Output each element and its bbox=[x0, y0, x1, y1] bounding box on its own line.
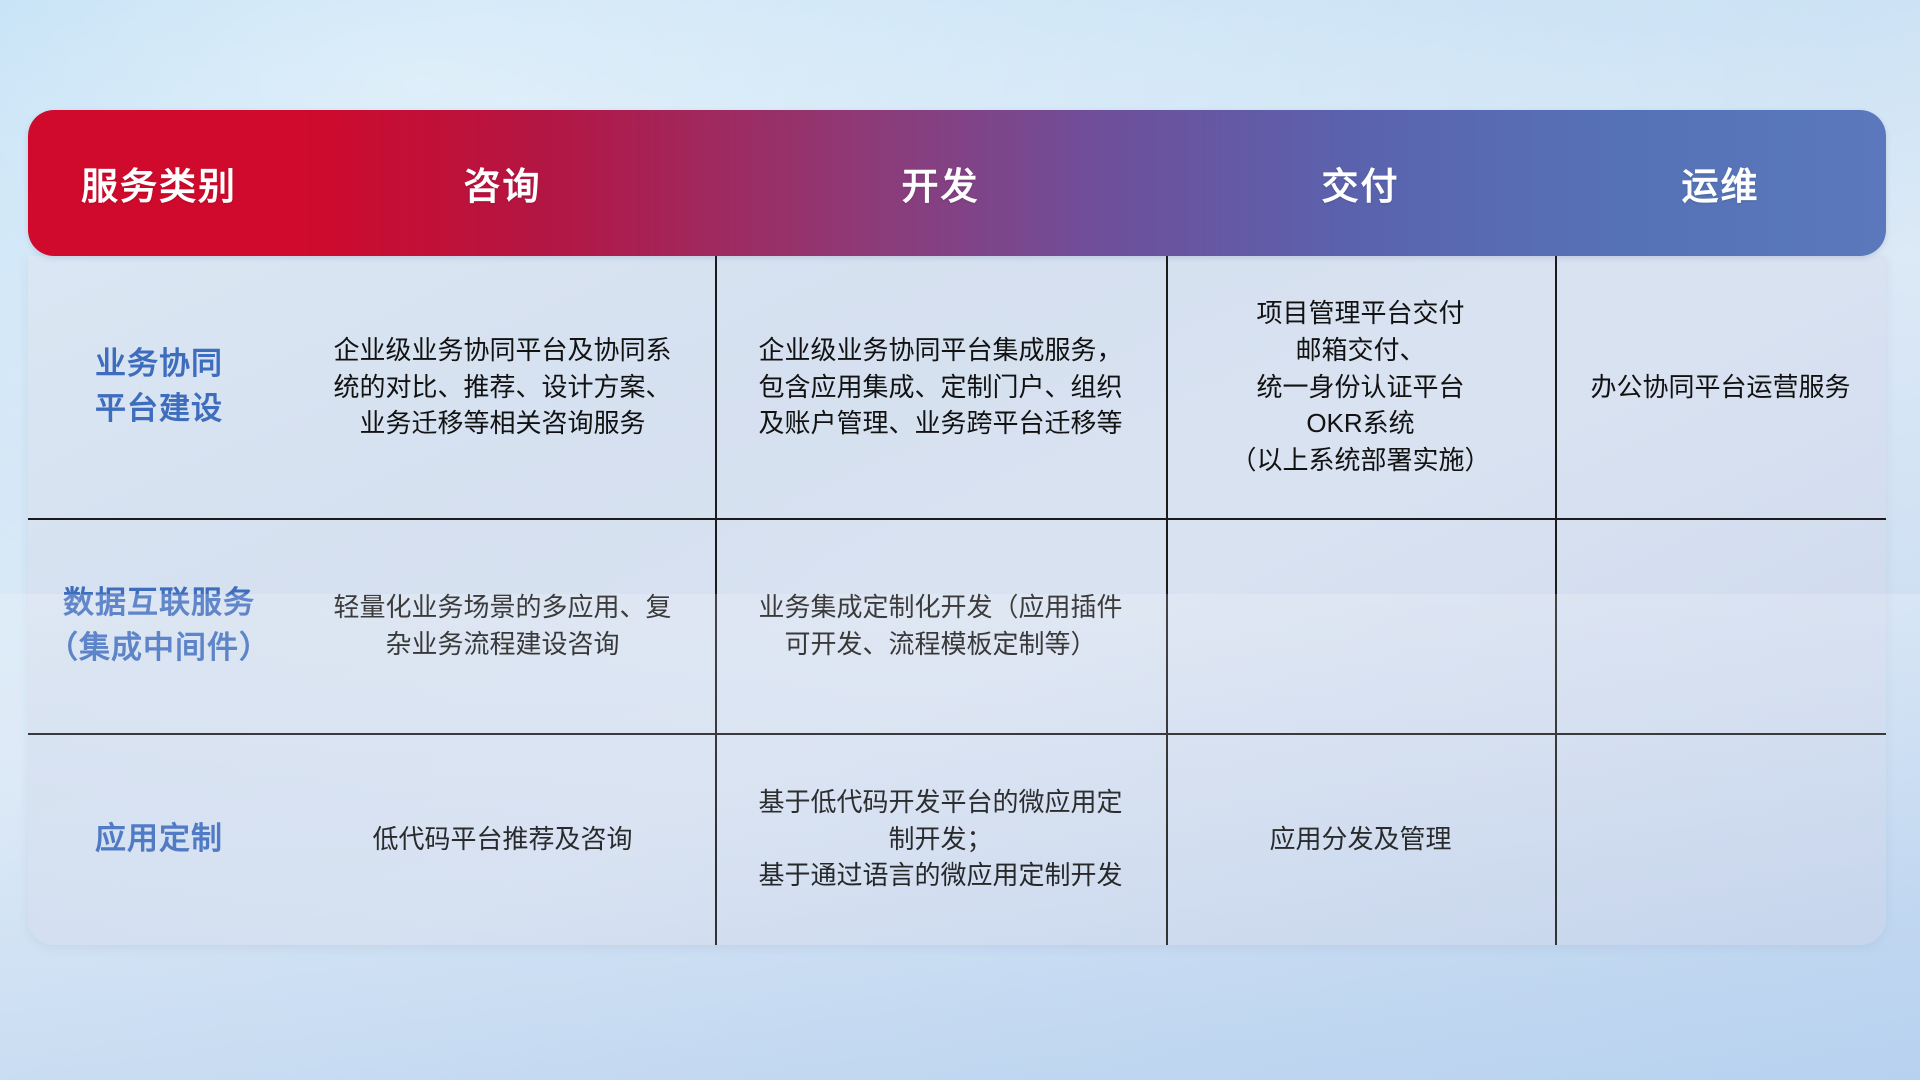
cell-delivery: 项目管理平台交付 邮箱交付、 统一身份认证平台 OKR系统 （以上系统部署实施） bbox=[1166, 256, 1555, 518]
page-background: 服务类别 咨询 开发 交付 运维 业务协同 平台建设 企业级业务协同平台及协同系… bbox=[0, 0, 1920, 1080]
table-body: 业务协同 平台建设 企业级业务协同平台及协同系 统的对比、推荐、设计方案、 业务… bbox=[28, 256, 1886, 945]
cell-operations bbox=[1555, 518, 1886, 733]
column-header-category: 服务类别 bbox=[28, 110, 290, 256]
column-header-consulting: 咨询 bbox=[290, 110, 715, 256]
column-header-operations: 运维 bbox=[1555, 110, 1886, 256]
cell-development: 业务集成定制化开发（应用插件 可开发、流程模板定制等） bbox=[715, 518, 1166, 733]
column-header-development: 开发 bbox=[715, 110, 1166, 256]
cell-category: 数据互联服务 （集成中间件） bbox=[28, 518, 290, 733]
cell-delivery: 应用分发及管理 bbox=[1166, 733, 1555, 945]
table-header-row: 服务类别 咨询 开发 交付 运维 bbox=[28, 110, 1886, 256]
column-header-delivery: 交付 bbox=[1166, 110, 1555, 256]
table-row: 业务协同 平台建设 企业级业务协同平台及协同系 统的对比、推荐、设计方案、 业务… bbox=[28, 256, 1886, 518]
table-row: 数据互联服务 （集成中间件） 轻量化业务场景的多应用、复 杂业务流程建设咨询 业… bbox=[28, 518, 1886, 733]
cell-category: 业务协同 平台建设 bbox=[28, 256, 290, 518]
service-category-table: 服务类别 咨询 开发 交付 运维 业务协同 平台建设 企业级业务协同平台及协同系… bbox=[28, 110, 1886, 945]
cell-development: 企业级业务协同平台集成服务， 包含应用集成、定制门户、组织 及账户管理、业务跨平… bbox=[715, 256, 1166, 518]
table-row: 应用定制 低代码平台推荐及咨询 基于低代码开发平台的微应用定 制开发； 基于通过… bbox=[28, 733, 1886, 945]
cell-consulting: 低代码平台推荐及咨询 bbox=[290, 733, 715, 945]
cell-operations bbox=[1555, 733, 1886, 945]
cell-operations: 办公协同平台运营服务 bbox=[1555, 256, 1886, 518]
cell-consulting: 轻量化业务场景的多应用、复 杂业务流程建设咨询 bbox=[290, 518, 715, 733]
cell-delivery bbox=[1166, 518, 1555, 733]
cell-consulting: 企业级业务协同平台及协同系 统的对比、推荐、设计方案、 业务迁移等相关咨询服务 bbox=[290, 256, 715, 518]
cell-development: 基于低代码开发平台的微应用定 制开发； 基于通过语言的微应用定制开发 bbox=[715, 733, 1166, 945]
cell-category: 应用定制 bbox=[28, 733, 290, 945]
